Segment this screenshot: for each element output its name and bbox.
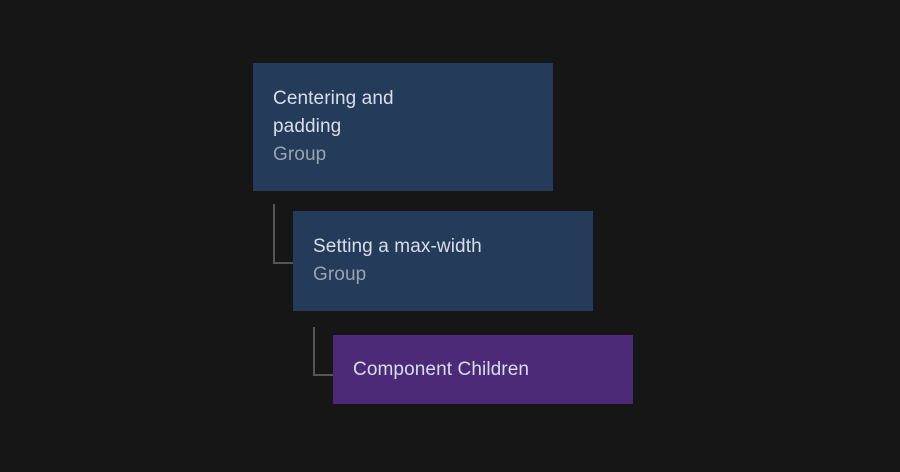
connector-path <box>274 204 294 263</box>
hierarchy-canvas: Centering and padding Group Setting a ma… <box>0 0 900 472</box>
tree-node-subtitle: Group <box>273 141 326 169</box>
tree-node-setting-a-max-width[interactable]: Setting a max-width Group <box>293 211 593 311</box>
tree-node-title: Setting a max-width <box>313 233 482 261</box>
tree-node-subtitle: Group <box>313 261 366 289</box>
connector-elbow-icon <box>313 327 335 377</box>
connector-group-to-group <box>273 204 295 265</box>
tree-node-centering-and-padding[interactable]: Centering and padding Group <box>253 63 553 191</box>
connector-group-to-component <box>313 327 335 377</box>
tree-node-component-children[interactable]: Component Children <box>333 335 633 404</box>
tree-node-title: Component Children <box>353 356 529 384</box>
connector-path <box>314 327 334 375</box>
connector-elbow-icon <box>273 204 295 265</box>
tree-node-title: Centering and padding <box>273 85 394 141</box>
